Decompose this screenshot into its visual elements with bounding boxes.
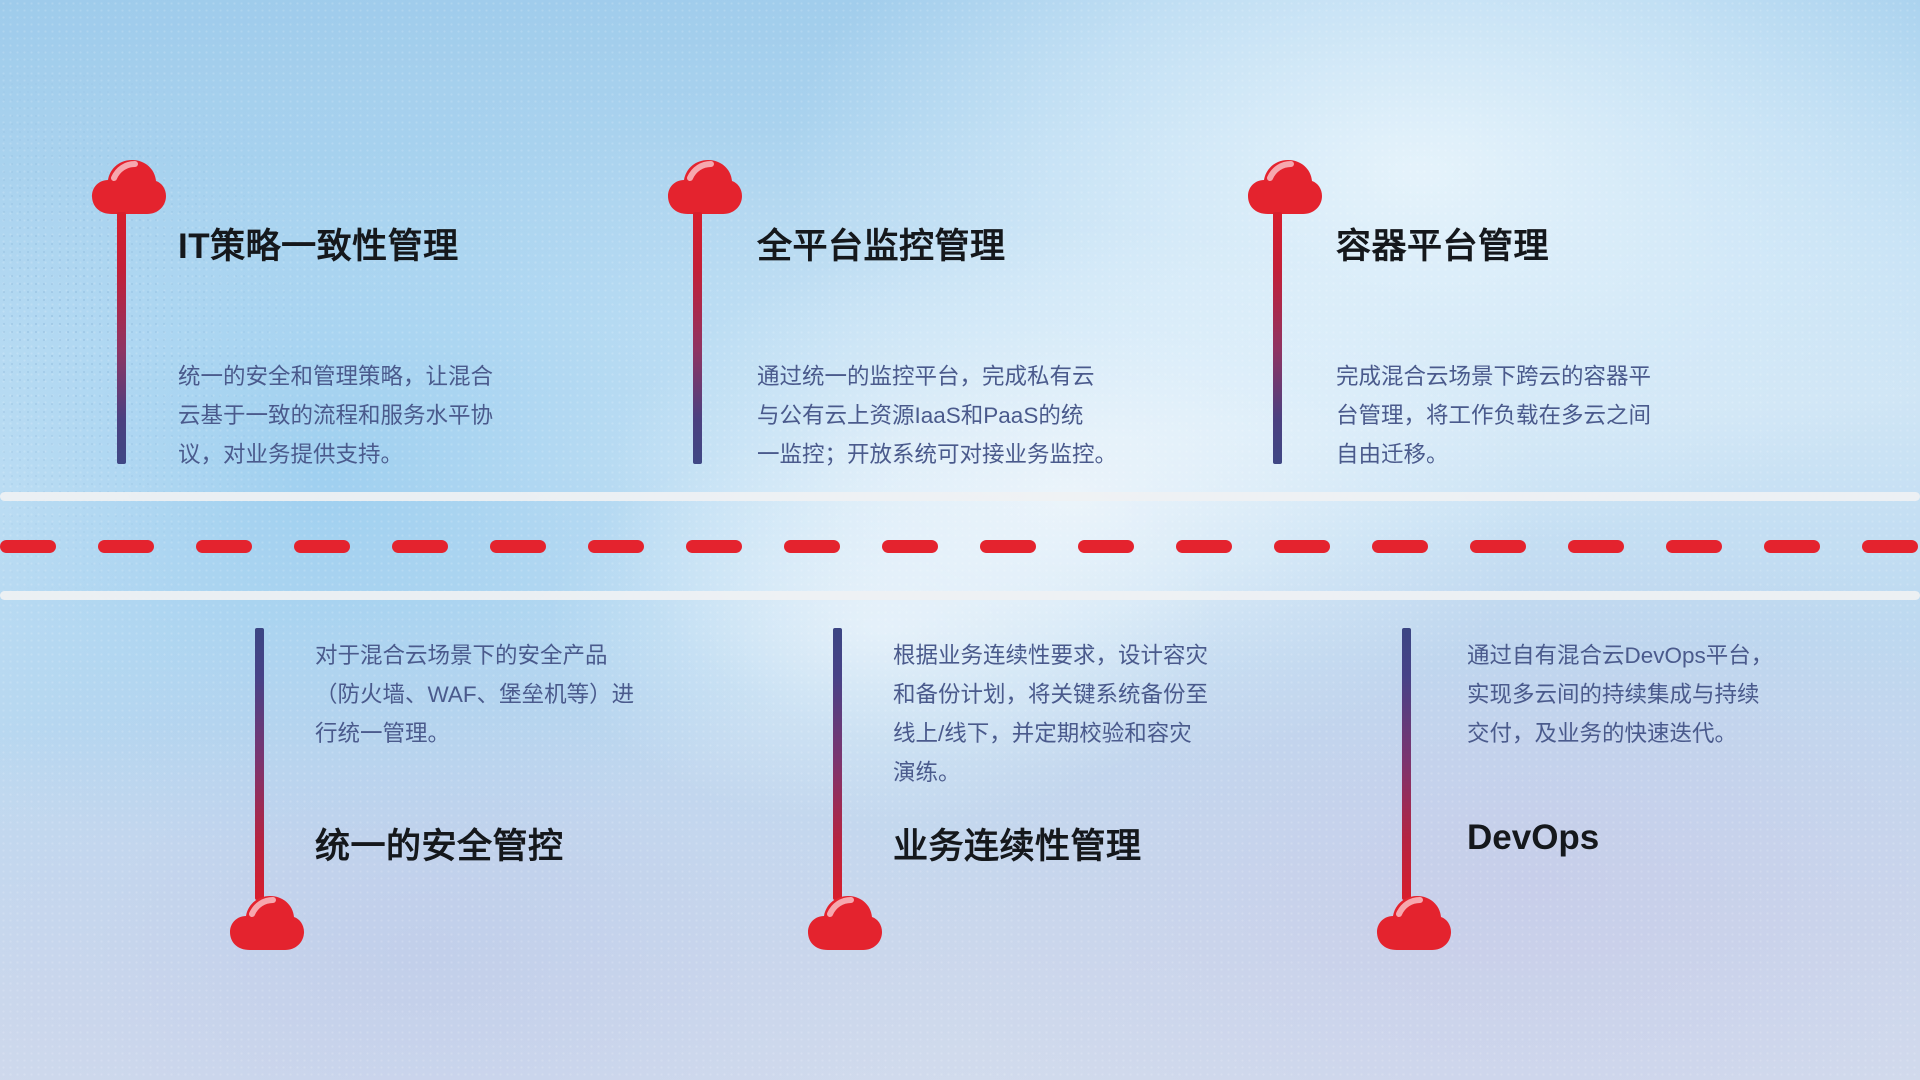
cloud-icon <box>230 896 304 952</box>
body-container-platform: 完成混合云场景下跨云的容器平 台管理，将工作负载在多云之间 自由迁移。 <box>1336 357 1786 474</box>
divider-dash <box>1764 540 1820 553</box>
divider-dash <box>980 540 1036 553</box>
heading-business-continuity: 业务连续性管理 <box>893 818 1142 869</box>
heading-devops: DevOps <box>1467 818 1599 858</box>
connector-stem <box>833 628 842 900</box>
cloud-icon <box>668 160 742 216</box>
divider-dash <box>588 540 644 553</box>
divider-rail-bottom <box>0 591 1920 600</box>
connector-stem <box>1273 212 1282 464</box>
divider-dash <box>98 540 154 553</box>
divider-dash <box>1274 540 1330 553</box>
heading-it-policy: IT策略一致性管理 <box>178 218 459 269</box>
divider-dash <box>392 540 448 553</box>
divider-dash <box>1568 540 1624 553</box>
divider-dash <box>294 540 350 553</box>
divider-dash <box>784 540 840 553</box>
divider-dash <box>196 540 252 553</box>
divider-dash <box>1862 540 1918 553</box>
heading-platform-monitoring: 全平台监控管理 <box>757 218 1006 269</box>
infographic-canvas: IT策略一致性管理 统一的安全和管理策略，让混合 云基于一致的流程和服务水平协 … <box>0 0 1920 1080</box>
divider-dash <box>0 540 56 553</box>
divider-rail-top <box>0 492 1920 501</box>
divider-dashed-line <box>0 540 1920 553</box>
connector-stem <box>693 212 702 464</box>
divider-dash <box>1470 540 1526 553</box>
cloud-icon <box>808 896 882 952</box>
divider-dash <box>1372 540 1428 553</box>
divider-dash <box>1666 540 1722 553</box>
body-platform-monitoring: 通过统一的监控平台，完成私有云 与公有云上资源IaaS和PaaS的统 一监控；开… <box>757 357 1227 474</box>
cloud-icon <box>1377 896 1451 952</box>
connector-stem <box>1402 628 1411 900</box>
heading-unified-security: 统一的安全管控 <box>315 818 564 869</box>
cloud-icon <box>1248 160 1322 216</box>
cloud-icon <box>92 160 166 216</box>
heading-container-platform: 容器平台管理 <box>1336 218 1549 269</box>
divider-dash <box>1176 540 1232 553</box>
connector-stem <box>117 212 126 464</box>
divider-dash <box>686 540 742 553</box>
divider-dash <box>1078 540 1134 553</box>
divider-dash <box>882 540 938 553</box>
connector-stem <box>255 628 264 900</box>
body-unified-security: 对于混合云场景下的安全产品 （防火墙、WAF、堡垒机等）进 行统一管理。 <box>315 636 745 753</box>
body-devops: 通过自有混合云DevOps平台， 实现多云间的持续集成与持续 交付，及业务的快速… <box>1467 636 1907 753</box>
divider-dash <box>490 540 546 553</box>
body-business-continuity: 根据业务连续性要求，设计容灾 和备份计划，将关键系统备份至 线上/线下，并定期校… <box>893 636 1323 792</box>
center-divider <box>0 492 1920 600</box>
body-it-policy: 统一的安全和管理策略，让混合 云基于一致的流程和服务水平协 议，对业务提供支持。 <box>178 357 618 474</box>
